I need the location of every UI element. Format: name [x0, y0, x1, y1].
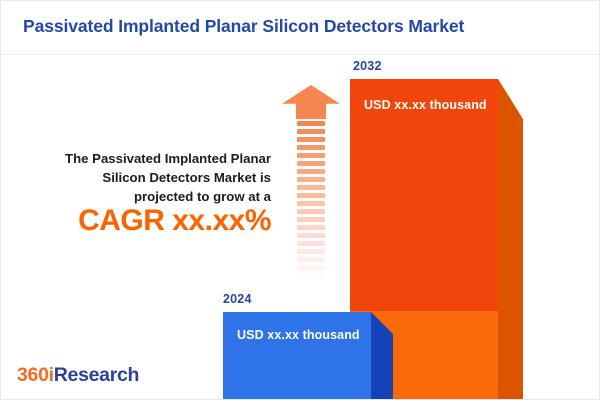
cagr-callout: CAGR xx.xx%	[13, 204, 271, 238]
arrow-segment	[297, 145, 325, 150]
bar-2024-front-face	[223, 312, 371, 400]
bar-2024-value-label: USD xx.xx thousand	[237, 328, 360, 342]
statement-line-1: The Passivated Implanted Planar	[13, 149, 271, 168]
bar-2032-front-face-upper	[350, 79, 498, 311]
logo-mark-text: 360i	[17, 364, 54, 386]
arrow-segment	[297, 233, 325, 238]
arrow-segment	[297, 273, 325, 278]
arrow-segment	[297, 121, 325, 126]
bar-2032-category-label: 2032	[353, 59, 382, 73]
arrow-head-icon	[282, 85, 340, 119]
arrow-segment	[297, 265, 325, 270]
infographic-canvas: Passivated Implanted Planar Silicon Dete…	[0, 0, 600, 400]
logo-word-text: Research	[54, 364, 139, 386]
arrow-segment	[297, 249, 325, 254]
arrow-segment	[297, 241, 325, 246]
arrow-segment	[297, 209, 325, 214]
arrow-segment	[297, 185, 325, 190]
growth-arrow-icon	[282, 85, 340, 290]
arrow-segment	[297, 257, 325, 262]
bar-2032-value-label: USD xx.xx thousand	[364, 98, 487, 112]
arrow-segment	[297, 177, 325, 182]
arrow-segment	[297, 137, 325, 142]
growth-statement: The Passivated Implanted Planar Silicon …	[13, 149, 271, 206]
arrow-segment	[297, 201, 325, 206]
bar-2024-category-label: 2024	[223, 292, 252, 306]
page-title: Passivated Implanted Planar Silicon Dete…	[23, 16, 464, 37]
bar-2032-side-face	[498, 79, 523, 400]
title-bar: Passivated Implanted Planar Silicon Dete…	[1, 1, 599, 55]
arrow-segment	[297, 129, 325, 134]
arrow-segment	[297, 193, 325, 198]
arrow-segment	[297, 169, 325, 174]
arrow-segment	[297, 153, 325, 158]
arrow-segment	[297, 161, 325, 166]
arrow-segment	[297, 225, 325, 230]
brand-logo: 360iResearch	[17, 364, 139, 387]
statement-line-2: Silicon Detectors Market is	[13, 168, 271, 187]
arrow-segment	[297, 217, 325, 222]
